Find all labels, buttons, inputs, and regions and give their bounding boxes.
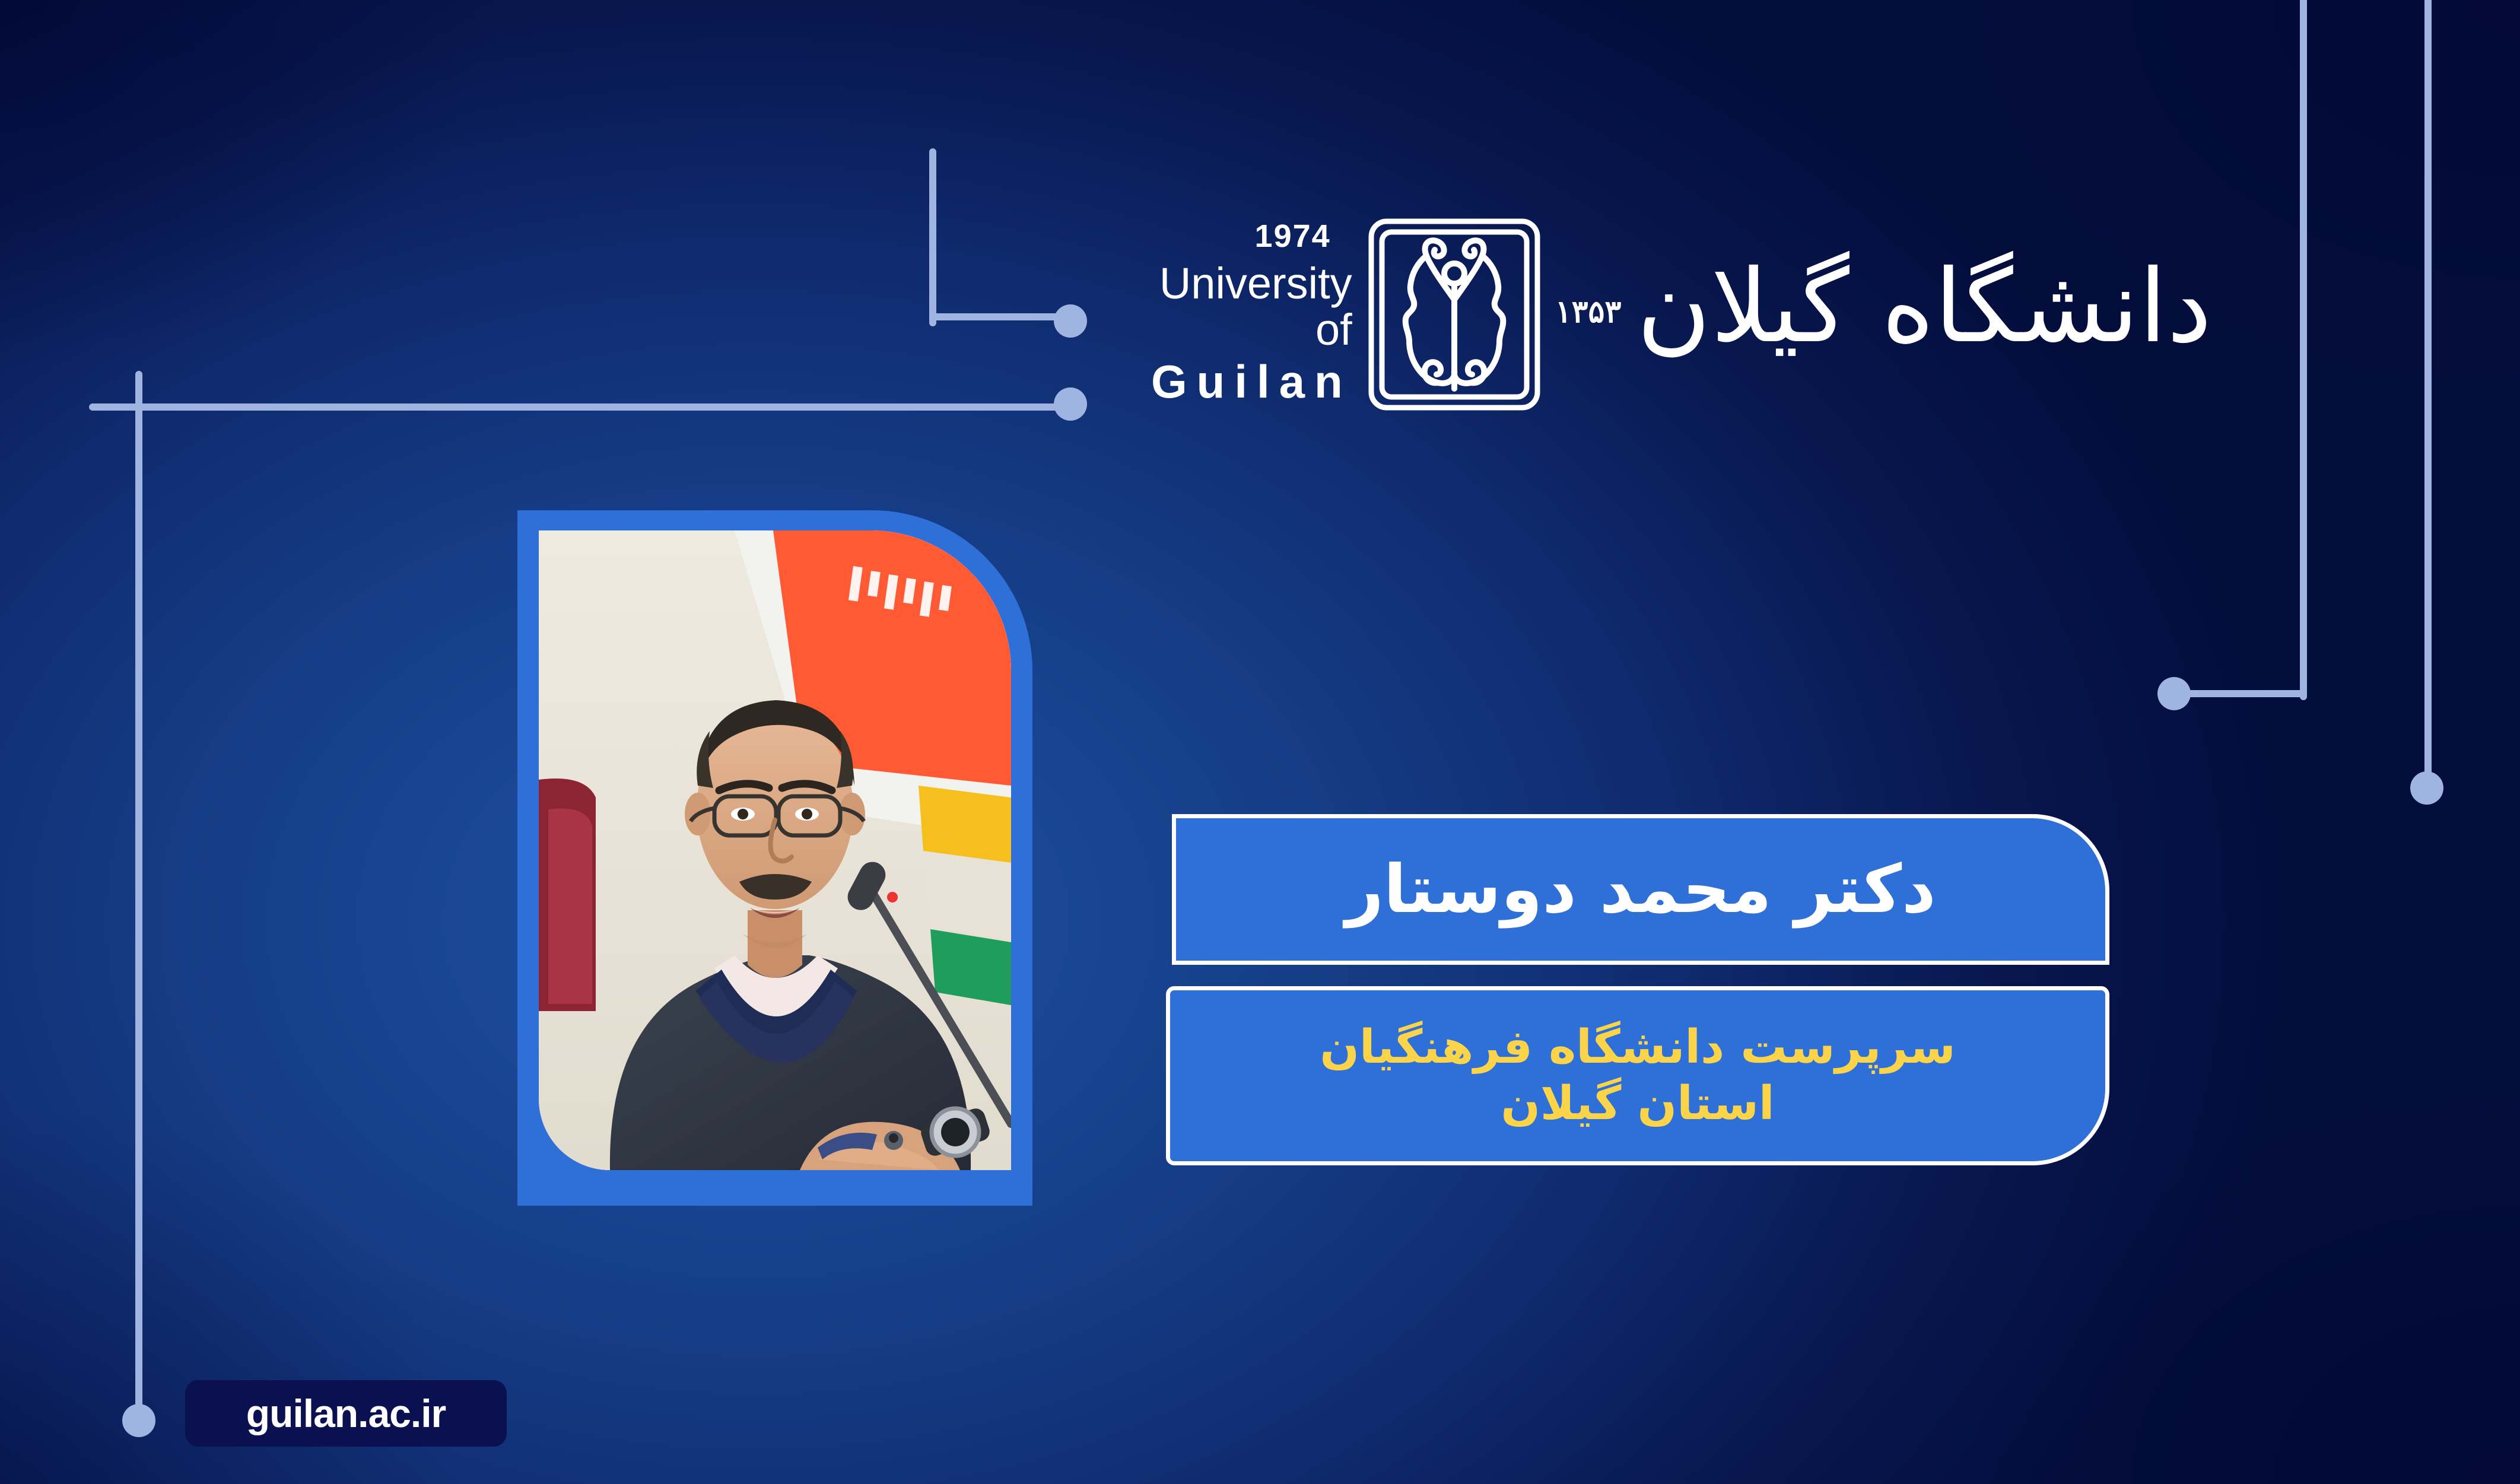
- decor-dot-mid-upper: [1054, 304, 1087, 338]
- decor-dot-right-lower: [2410, 771, 2443, 805]
- logo-line-university-of: University of: [1151, 260, 1352, 352]
- decor-vline-mid-upper: [929, 148, 936, 326]
- decor-dot-right: [2157, 677, 2191, 710]
- website-url-text: guilan.ac.ir: [246, 1391, 446, 1436]
- decor-dot-mid-lower: [1054, 387, 1087, 421]
- person-role-line-2: استان گیلان: [1501, 1076, 1774, 1132]
- university-logo: 1974 University of Guilan ۱۳۵۳ دانشگاه گ…: [1151, 196, 2053, 433]
- person-role-banner: سرپرست دانشگاه فرهنگیان استان گیلان: [1166, 986, 2109, 1165]
- decor-dot-left-lower: [122, 1404, 155, 1437]
- logo-name-persian: دانشگاه گیلان: [1636, 262, 2211, 352]
- poster-canvas: 1974 University of Guilan ۱۳۵۳ دانشگاه گ…: [0, 0, 2520, 1484]
- guilan-university-emblem-icon: [1365, 217, 1543, 412]
- decor-vline-left-upper: [135, 371, 142, 1433]
- decor-hline-left-upper: [89, 403, 1086, 411]
- portrait-illustration: [539, 530, 1011, 1170]
- decor-hline-right: [2178, 690, 2303, 697]
- logo-english-text: 1974 University of Guilan: [1151, 220, 1365, 408]
- portrait-photo: [539, 530, 1011, 1170]
- logo-persian-text: ۱۳۵۳ دانشگاه گیلان: [1543, 277, 2212, 352]
- person-name: دکتر محمد دوستار: [1345, 856, 1936, 923]
- logo-year-latin: 1974: [1151, 220, 1331, 252]
- logo-year-persian: ۱۳۵۳: [1555, 294, 1622, 330]
- person-role-line-1: سرپرست دانشگاه فرهنگیان: [1320, 1019, 1955, 1076]
- logo-line-guilan: Guilan: [1151, 355, 1352, 409]
- portrait-frame: [517, 510, 1032, 1206]
- website-url-badge[interactable]: guilan.ac.ir: [185, 1380, 507, 1447]
- decor-vline-right-inner: [2424, 0, 2432, 786]
- person-name-banner: دکتر محمد دوستار: [1172, 814, 2109, 965]
- decor-vline-right-outer: [2300, 0, 2307, 700]
